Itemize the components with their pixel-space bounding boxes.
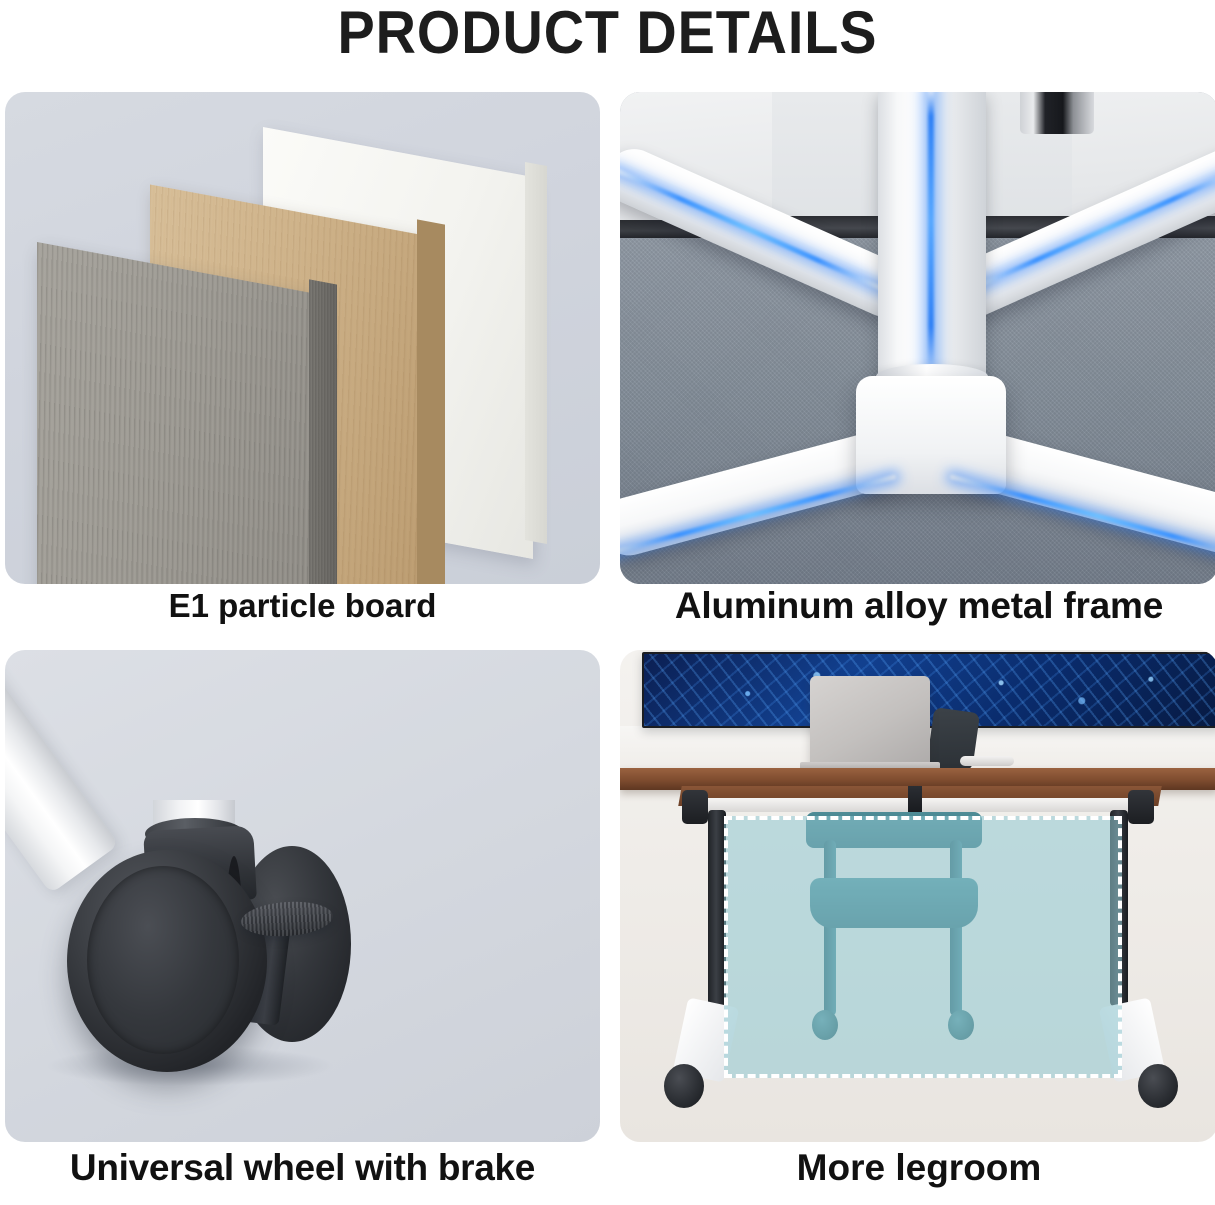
right-bracket [1128,790,1154,824]
laptop [810,676,930,766]
particle-board-image [5,92,600,584]
page-title: PRODUCT DETAILS [43,0,1173,70]
base-hub [856,376,1006,494]
panel-particle-board[interactable]: E1 particle board [5,92,600,648]
panel-caption: Aluminum alloy metal frame [620,585,1215,627]
product-details-infographic: PRODUCT DETAILS E1 particle board [0,0,1215,1205]
desk-caster-left [664,1064,704,1108]
legroom-highlight-area [724,816,1122,1078]
metal-frame-image [620,92,1215,584]
panel-more-legroom[interactable]: More legroom [620,650,1215,1205]
panel-caption: More legroom [620,1147,1215,1189]
caster-wheel-hub [87,866,239,1054]
gray-board [37,242,317,584]
mouse [960,756,1014,766]
frame-clip [1020,92,1094,134]
gray-board-edge [309,279,337,584]
panel-universal-wheel[interactable]: Universal wheel with brake [5,650,600,1205]
panel-metal-frame[interactable]: Aluminum alloy metal frame [620,92,1215,648]
left-bracket [682,790,708,824]
desk-caster-right [1138,1064,1178,1108]
more-legroom-image [620,650,1215,1142]
oak-board-edge [417,219,445,584]
white-board-edge [525,162,547,544]
glow-line-column [928,92,934,386]
leg-tube-upper [5,662,119,893]
universal-wheel-image [5,650,600,1142]
panel-caption: Universal wheel with brake [5,1147,600,1189]
panel-caption: E1 particle board [5,587,600,625]
panel-grid: E1 particle board [0,92,1215,1205]
